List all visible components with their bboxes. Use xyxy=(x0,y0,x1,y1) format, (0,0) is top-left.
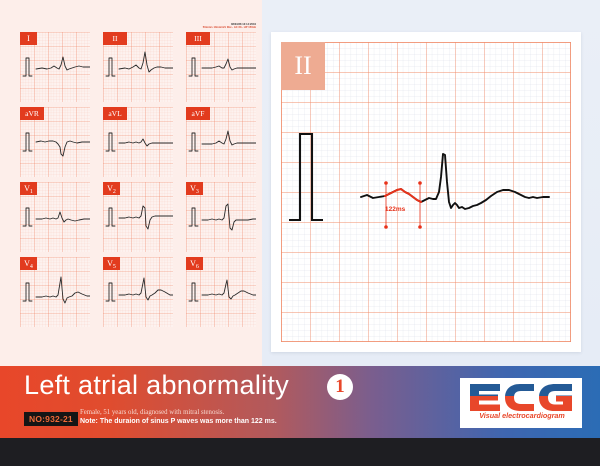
lead-III-panel[interactable]: III xyxy=(186,32,256,102)
p-wave-highlight xyxy=(385,189,421,202)
patient-info: Female, 51 years old, diagnosed with mit… xyxy=(80,408,380,417)
large-lead-panel[interactable]: II 122ms xyxy=(281,42,571,342)
lead-I-label: I xyxy=(20,32,37,45)
lead-V3-label: V3 xyxy=(186,182,203,195)
large-lead-panel-frame: II 122ms xyxy=(271,32,581,352)
lead-V1-panel[interactable]: V1 xyxy=(20,182,90,252)
case-number-badge: NO:932-21 xyxy=(24,412,78,426)
ecg-waveform xyxy=(361,154,549,209)
lead-aVR-label: aVR xyxy=(20,107,44,120)
lead-aVF-label: aVF xyxy=(186,107,210,120)
caliper-dot-bl xyxy=(384,225,388,229)
lead-II-panel[interactable]: II xyxy=(103,32,173,102)
lead-V5-label: V5 xyxy=(103,257,120,270)
lead-V6-label: V6 xyxy=(186,257,203,270)
machine-settings: 50mm/s 10mm/mV 0Hz~ AC 60~ HP 150Hz xyxy=(176,26,256,29)
machine-header: 08/03/38 12:14:2004 50mm/s 10mm/mV 0Hz~ … xyxy=(176,23,256,30)
lead-aVL-label: aVL xyxy=(103,107,127,120)
lead-V3-panel[interactable]: V3 xyxy=(186,182,256,252)
calibration-pulse xyxy=(289,134,323,220)
lead-III-label: III xyxy=(186,32,210,45)
page-title: Left atrial abnormality xyxy=(24,370,289,401)
lead-I-panel[interactable]: I xyxy=(20,32,90,102)
caliper-dot-tl xyxy=(384,181,388,185)
slide-number-badge: 1 xyxy=(327,374,353,400)
ecg-logo-letters xyxy=(468,382,574,412)
case-description: Female, 51 years old, diagnosed with mit… xyxy=(80,408,380,427)
p-wave-duration-label: 122ms xyxy=(385,206,405,213)
lead-V4-label: V4 xyxy=(20,257,37,270)
caliper-dot-tr xyxy=(418,181,422,185)
ecg-logo-tagline: Visual electrocardiogram xyxy=(468,411,576,420)
lead-II-label: II xyxy=(103,32,127,45)
ecg-trace-large xyxy=(281,42,571,342)
slide-root: 08/03/38 12:14:2004 50mm/s 10mm/mV 0Hz~ … xyxy=(0,0,600,466)
lead-V4-panel[interactable]: V4 xyxy=(20,257,90,327)
caliper-dot-br xyxy=(418,225,422,229)
ecg-logo: Visual electrocardiogram xyxy=(460,378,582,428)
lead-V1-label: V1 xyxy=(20,182,37,195)
lead-V2-panel[interactable]: V2 xyxy=(103,182,173,252)
lead-aVR-panel[interactable]: aVR xyxy=(20,107,90,177)
lead-V5-panel[interactable]: V5 xyxy=(103,257,173,327)
lead-aVF-panel[interactable]: aVF xyxy=(186,107,256,177)
twelve-lead-grid: 08/03/38 12:14:2004 50mm/s 10mm/mV 0Hz~ … xyxy=(20,32,256,358)
lead-V6-panel[interactable]: V6 xyxy=(186,257,256,327)
footer-bar xyxy=(0,438,600,466)
clinical-note: Note: The duraion of sinus P waves was m… xyxy=(80,417,380,427)
lead-V2-label: V2 xyxy=(103,182,120,195)
lead-aVL-panel[interactable]: aVL xyxy=(103,107,173,177)
